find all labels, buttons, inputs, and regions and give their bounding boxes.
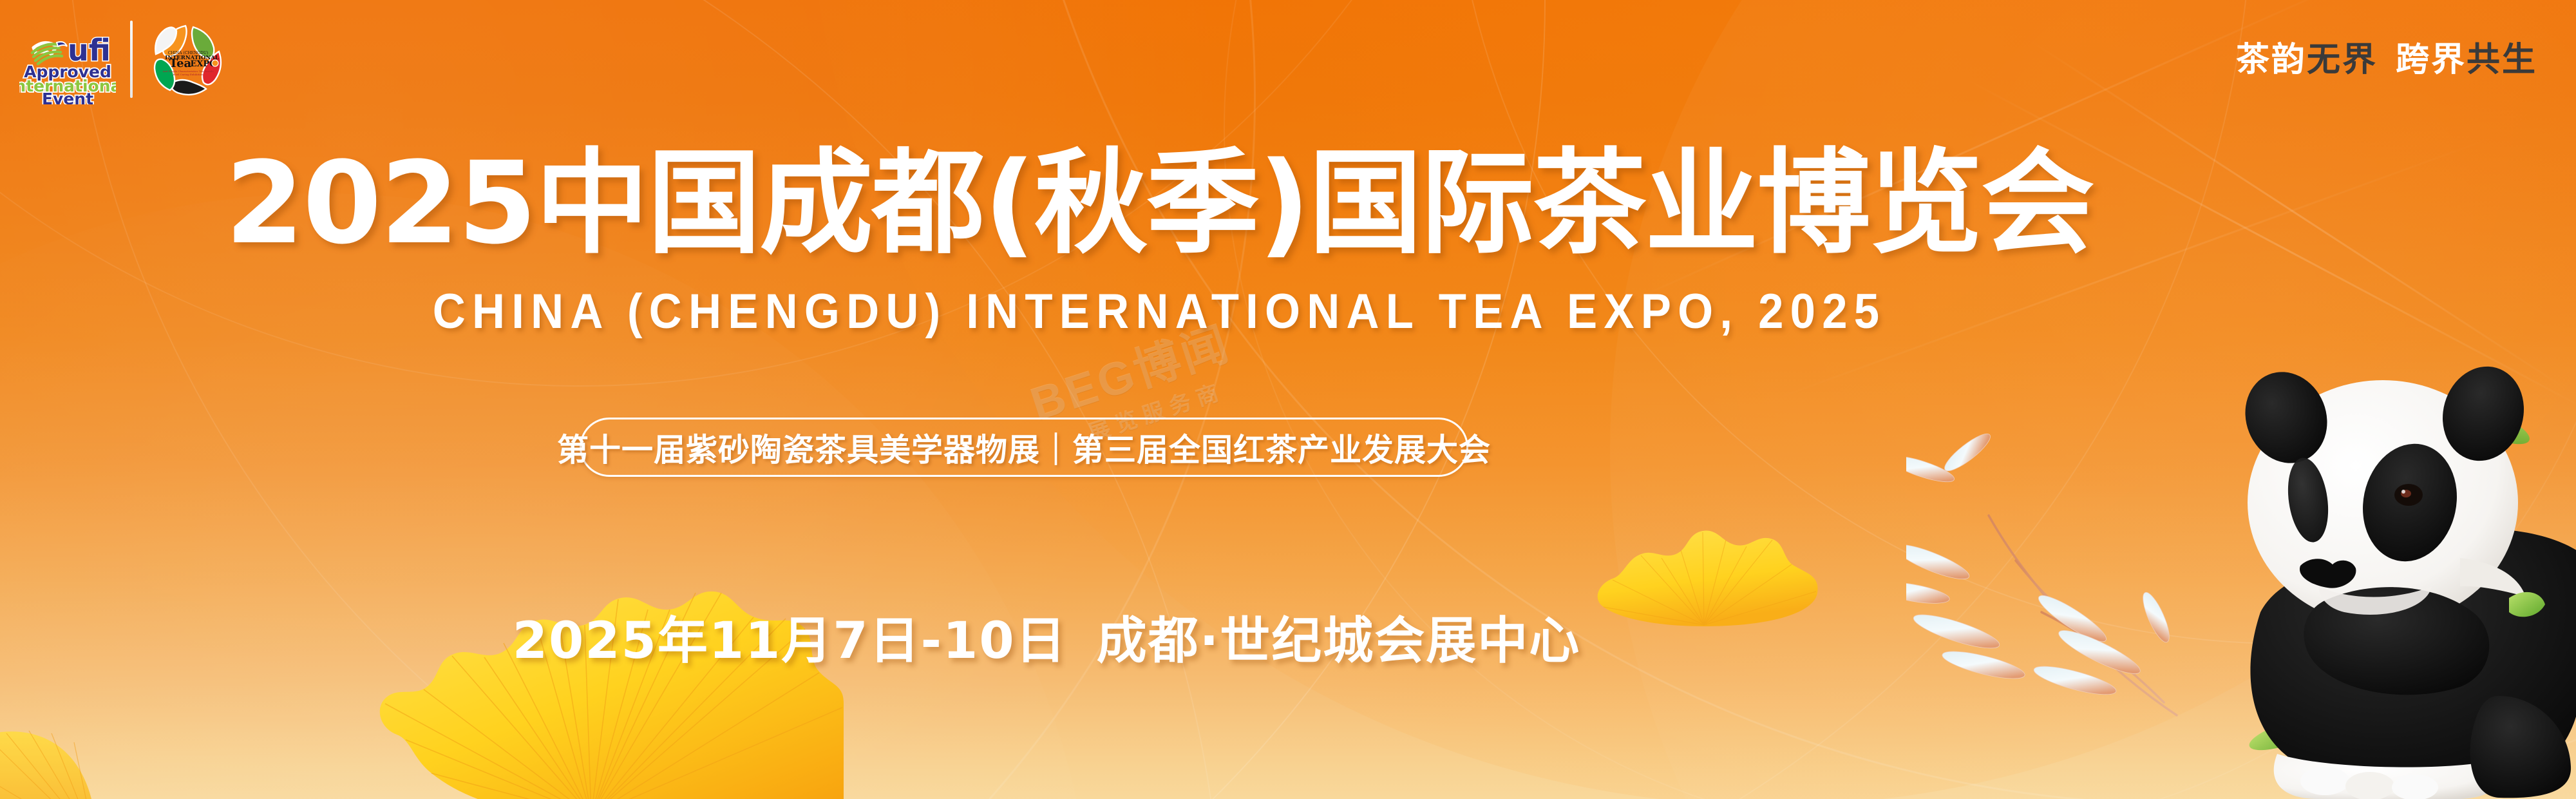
tea-logo-dot-icon [212,60,218,66]
background-arc [64,0,2254,799]
logo-divider [130,21,133,98]
page-subtitle: CHINA (CHENGDU) INTERNATIONAL TEA EXPO, … [81,284,2237,340]
tagline-part-4: 共生 [2467,41,2537,79]
tea-logo-footer2: Bowl Curing Exhibition [173,73,204,76]
expo-banner: ufi Approved International Event CHINA (… [0,0,2576,799]
tagline-part-2: 无界 [2307,41,2378,79]
sub-events-badge: 第十一届紫砂陶瓷茶具美学器物展｜第三届全国红茶产业发展大会 [580,418,1468,477]
ginkgo-leaf-large [335,546,844,799]
page-title: 2025中国成都(秋季)国际茶业博览会 [0,147,2318,260]
ufi-approved-logo: ufi Approved International Event [19,14,116,104]
tea-logo-brand: Tea [169,57,192,70]
background-arc [0,0,1224,799]
background-glow-top [805,0,2576,799]
sub-events-badge-label: 第十一届紫砂陶瓷茶具美学器物展｜第三届全国红茶产业发展大会 [557,425,1491,470]
tagline-part-3: 跨界 [2396,41,2467,79]
ginkgo-leaf-small-left [0,696,232,799]
background-glow-left [0,0,1288,799]
tea-expo-logo: CHINA (CHENGDU) INTERNATIONAL Tea EXPO A… [147,18,229,101]
event-date: 2025年11月7日-10日 [513,612,1067,670]
background-arc [998,0,2576,799]
panda-illustration [2048,309,2576,799]
background-arc [1224,0,2576,799]
background-arc [0,0,1256,799]
tagline: 茶韵无界跨界共生 [2236,32,2537,81]
ufi-line-event: Event [42,90,93,104]
background-glow-right [1610,0,2576,799]
logo-group: ufi Approved International Event CHINA (… [19,14,229,104]
tagline-part-1: 茶韵 [2236,41,2307,79]
date-venue-line: 2025年11月7日-10日成都·世纪城会展中心 [0,601,2093,673]
background-arc [0,0,1546,799]
event-venue: 成都·世纪城会展中心 [1097,612,1581,670]
bamboo-branch-decoration [1906,400,2267,735]
